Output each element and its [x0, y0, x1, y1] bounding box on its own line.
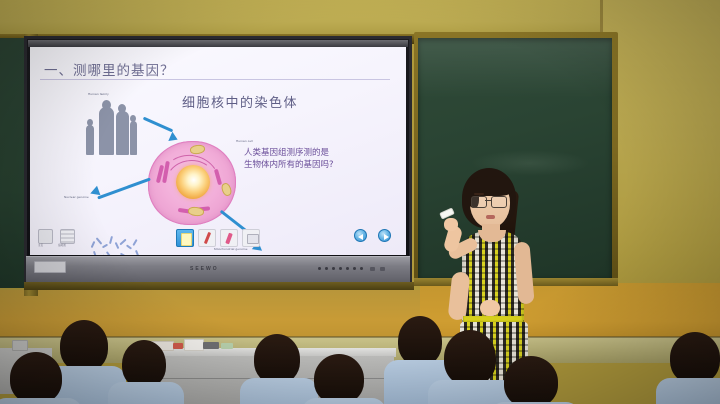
- teacher-raised-hand: [444, 218, 458, 231]
- highlighter-tool-button[interactable]: [220, 229, 238, 247]
- teacher-mouth: [486, 215, 495, 219]
- whiteboard-base-rail: [24, 282, 414, 290]
- human-family-illustration: [86, 99, 142, 157]
- pen-tool-button[interactable]: [198, 229, 216, 247]
- whiteboard-screen[interactable]: 一、测哪里的基因？ 细胞核中的染色体 人类基因组测序测的是 生物体内所有的基因吗…: [30, 47, 406, 255]
- previous-slide-button[interactable]: [354, 229, 367, 242]
- whiteboard-toolbar-left[interactable]: 主页 缩略图: [38, 229, 84, 249]
- human-family-label: Human family: [88, 92, 109, 96]
- right-wall: [600, 0, 720, 330]
- eyeglasses-bridge: [485, 200, 491, 201]
- eraser-tool-button[interactable]: [242, 229, 260, 247]
- counter-item-red: [173, 343, 183, 349]
- arrow-family-to-cell: [143, 117, 173, 133]
- select-tool-button[interactable]: [176, 229, 194, 247]
- slide-title: 一、测哪里的基因？: [44, 59, 175, 79]
- home-icon[interactable]: [38, 229, 53, 244]
- whiteboard-top-bezel: [28, 40, 408, 47]
- slide-title-underline: [40, 79, 390, 80]
- counter-item-green: [221, 343, 233, 349]
- thumbnail-icon-caption: 缩略图: [58, 243, 66, 247]
- counter-item-white: [184, 339, 204, 351]
- cell-nucleus: [176, 165, 210, 199]
- chromosome-scatter: [90, 235, 148, 255]
- question-line-1: 人类基因组测序测的是: [244, 147, 334, 159]
- eyeglasses-right-lens: [491, 196, 507, 208]
- slide-heading: 细胞核中的染色体: [182, 92, 298, 111]
- teacher-lower-hand: [480, 300, 500, 316]
- whiteboard-toolbar-right[interactable]: [354, 229, 400, 249]
- chalkboard-gloss: [418, 38, 612, 98]
- slide-question-text: 人类基因组测序测的是 生物体内所有的基因吗?: [244, 147, 334, 172]
- whiteboard-toolbar-center[interactable]: [176, 229, 260, 251]
- wainscot-line: [0, 336, 720, 338]
- eyeglasses-left-lens: [471, 196, 487, 208]
- home-icon-caption: 主页: [38, 243, 43, 247]
- whiteboard-hardware-controls[interactable]: [318, 265, 394, 273]
- counter-item-grey: [12, 340, 28, 351]
- nuclear-genome-label: Nuclear genome: [64, 195, 89, 199]
- classroom-scene: 一、测哪里的基因？ 细胞核中的染色体 人类基因组测序测的是 生物体内所有的基因吗…: [0, 0, 720, 404]
- question-line-2: 生物体内所有的基因吗?: [244, 159, 334, 171]
- counter-item-dark: [203, 342, 219, 349]
- whiteboard-pen-tray[interactable]: [34, 261, 66, 273]
- whiteboard-brand-logo: SEEWO: [190, 266, 219, 272]
- teacher-eyebrow: [474, 193, 484, 195]
- left-chalkboard: [0, 38, 26, 288]
- next-slide-button[interactable]: [378, 229, 391, 242]
- thumbnail-icon[interactable]: [60, 229, 75, 244]
